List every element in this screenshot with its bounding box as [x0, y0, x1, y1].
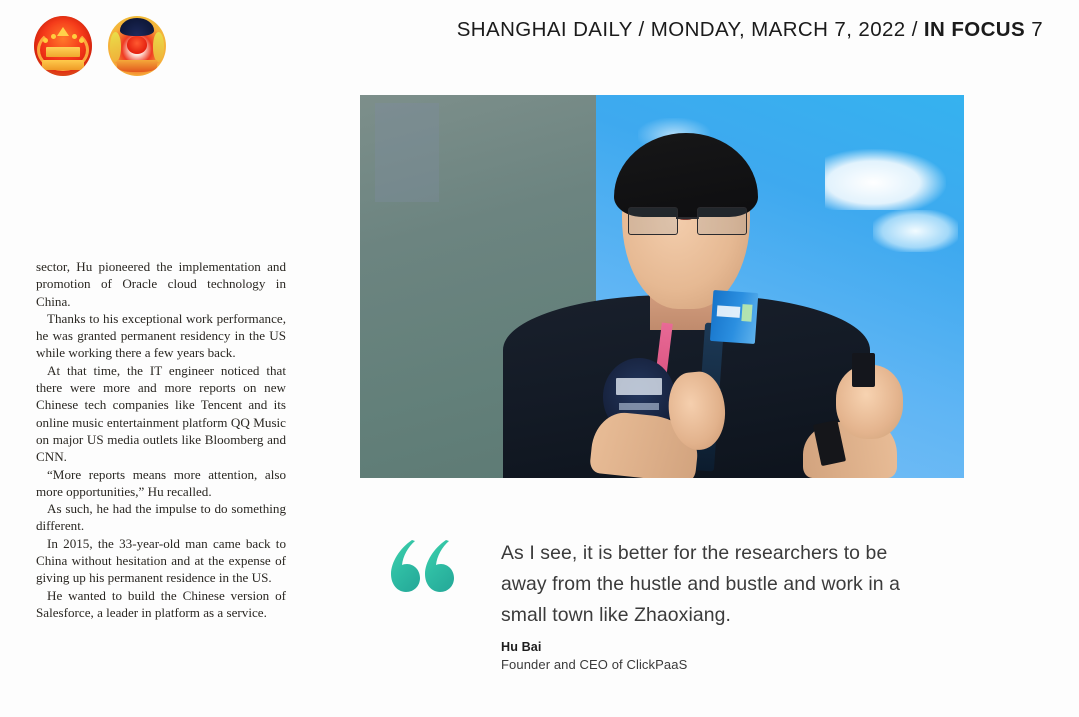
- issue-date: MONDAY, MARCH 7, 2022: [651, 18, 906, 41]
- subject-hair: [614, 133, 758, 218]
- subject-glasses-icon: [628, 207, 747, 233]
- handheld-device: [852, 353, 875, 387]
- cppcc-crown: [120, 18, 155, 36]
- cppcc-wheat-right: [153, 32, 165, 62]
- photo-cloud: [873, 210, 958, 252]
- emblem-small-star-icon: [79, 38, 84, 43]
- emblem-large-star-icon: [57, 27, 69, 36]
- glasses-bridge: [676, 217, 700, 219]
- emblem-small-star-icon: [51, 34, 56, 39]
- masthead-separator-1: /: [632, 18, 650, 41]
- photo-cloud: [825, 149, 946, 210]
- badge-text-block: [616, 378, 662, 395]
- emblem-tiananmen-gate: [46, 47, 80, 57]
- glasses-lens-left: [628, 207, 678, 235]
- cppcc-wheat-left: [110, 32, 122, 62]
- cppcc-base: [117, 60, 156, 72]
- pull-quote-attribution: Hu Bai Founder and CEO of ClickPaaS: [501, 640, 921, 672]
- article-photo: [360, 95, 964, 478]
- quote-author-name: Hu Bai: [501, 640, 921, 654]
- masthead-header-line: SHANGHAI DAILY / MONDAY, MARCH 7, 2022 /…: [457, 18, 1043, 42]
- article-paragraph: In 2015, the 33-year-old man came back t…: [36, 535, 286, 587]
- article-paragraph: sector, Hu pioneered the implementation …: [36, 258, 286, 310]
- subject-right-hand: [836, 365, 903, 439]
- section-name: IN FOCUS: [924, 18, 1025, 41]
- article-body-column: sector, Hu pioneered the implementation …: [36, 258, 286, 621]
- quotation-mark-icon: [388, 538, 458, 594]
- page-number: 7: [1031, 18, 1043, 41]
- cppcc-emblem-icon: [108, 16, 166, 76]
- emblem-base: [42, 60, 85, 70]
- emblem-small-star-icon: [43, 38, 48, 43]
- badge-subtext-block: [619, 403, 659, 410]
- glasses-lens-right: [697, 207, 747, 235]
- microphone-flag-mark: [717, 305, 741, 318]
- emblem-group: [34, 16, 166, 76]
- article-paragraph: “More reports means more attention, also…: [36, 466, 286, 501]
- microphone-flag-mark: [742, 304, 753, 322]
- microphone-flag: [710, 290, 758, 343]
- article-paragraph: As such, he had the impulse to do someth…: [36, 500, 286, 535]
- quote-author-role: Founder and CEO of ClickPaaS: [501, 657, 921, 672]
- national-emblem-of-china-icon: [34, 16, 92, 76]
- article-paragraph: At that time, the IT engineer noticed th…: [36, 362, 286, 466]
- pull-quote-text: As I see, it is better for the researche…: [501, 538, 921, 631]
- photo-subject-speaker: [547, 126, 825, 478]
- article-paragraph: Thanks to his exceptional work performan…: [36, 310, 286, 362]
- masthead-separator-2: /: [906, 18, 924, 41]
- article-paragraph: He wanted to build the Chinese version o…: [36, 587, 286, 622]
- cppcc-center-disc: [127, 36, 148, 54]
- publication-name: SHANGHAI DAILY: [457, 18, 633, 41]
- masthead: SHANGHAI DAILY / MONDAY, MARCH 7, 2022 /…: [0, 0, 1079, 92]
